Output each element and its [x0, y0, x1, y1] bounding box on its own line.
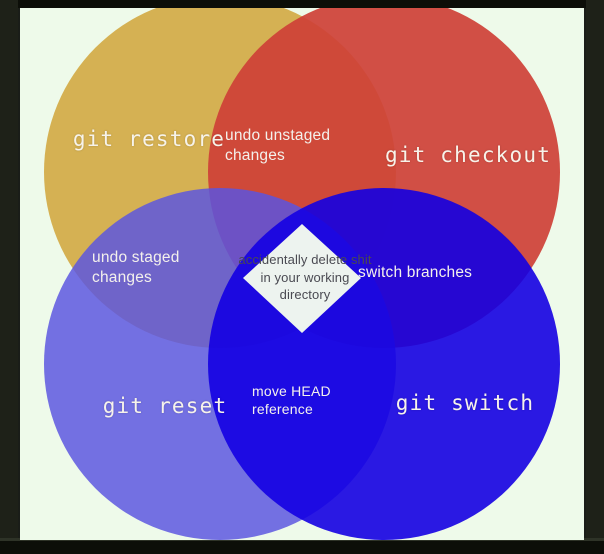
venn-circles-group — [20, 8, 584, 540]
video-frame: git restore git checkout git reset git s… — [0, 0, 604, 554]
letterbox-left-bar — [0, 0, 18, 554]
letterbox-top-bar — [0, 0, 604, 8]
circle-git-switch — [208, 188, 560, 540]
letterbox-right-bar — [586, 0, 604, 554]
letterbox-bottom-bar — [0, 540, 604, 554]
venn-diagram-canvas: git restore git checkout git reset git s… — [20, 8, 584, 540]
